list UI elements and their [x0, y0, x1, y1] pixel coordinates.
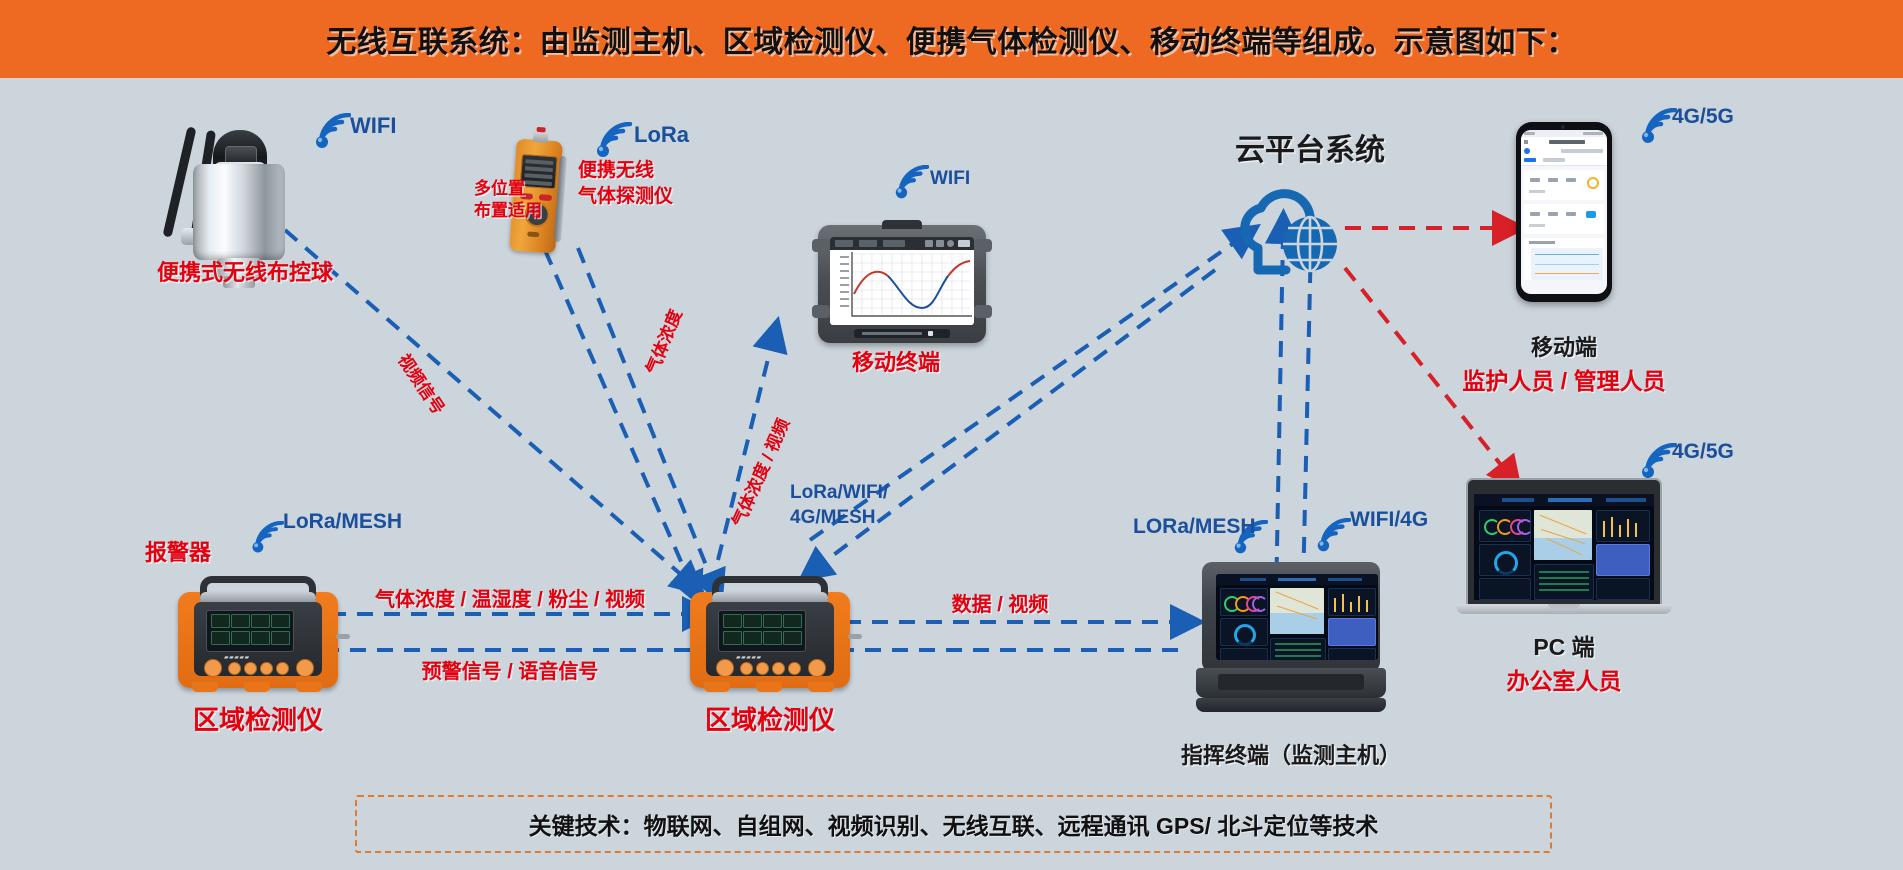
diagram-canvas: 无线互联系统：由监测主机、区域检测仪、便携气体检测仪、移动终端等组成。示意图如下…: [0, 0, 1903, 870]
dashboard-header: [1474, 494, 1654, 506]
gauge-panel: [1479, 510, 1531, 542]
mobile-phone-label: 移动端: [1434, 330, 1694, 362]
tablet-body: [818, 225, 986, 343]
area-detector-center-label: 区域检测仪: [640, 700, 900, 737]
trend-chart: [1531, 248, 1603, 280]
lora-signal-icon: [592, 122, 632, 162]
terminal-keyboard[interactable]: [1218, 674, 1364, 690]
signal-label-wifi-ball: WIFI: [350, 113, 396, 139]
cloud-platform-label: 云平台系统: [1150, 125, 1470, 169]
list-panel-right: [1596, 578, 1650, 600]
summary-card-2: [1524, 204, 1604, 234]
portable-detector-note: 多位置 布置适用: [474, 178, 542, 222]
antenna-connector: [848, 634, 862, 639]
label-line-2: 气体探测仪: [578, 184, 673, 210]
tablet-handle: [882, 220, 922, 229]
trend-chart: [830, 250, 974, 325]
page-header: 无线互联系统：由监测主机、区域检测仪、便携气体检测仪、移动终端等组成。示意图如下…: [0, 0, 1903, 78]
link-label-warning-voice: 预警信号 / 语音信号: [330, 655, 690, 684]
brand-mark: ▰▰▰▰▰: [224, 654, 250, 661]
filter-row[interactable]: [1521, 156, 1607, 166]
signal-icon-4g5g-phone: [1637, 108, 1677, 148]
chart-card: [1524, 238, 1604, 280]
ptz-ball-camera-label: 便携式无线布控球: [110, 255, 380, 287]
laptop-lid: [1466, 478, 1662, 606]
front-camera-icon: [1561, 125, 1565, 129]
terminal-lid: [1202, 562, 1380, 672]
alarm-device-label: 报警器: [145, 535, 211, 567]
link-label-data-video: 数据 / 视频: [860, 588, 1140, 617]
mobile-phone-sublabel: 监护人员 / 管理人员: [1414, 362, 1714, 396]
lora-mesh-signal-icon: [248, 521, 284, 557]
portable-gas-detector-label: 便携无线 气体探测仪: [578, 158, 673, 210]
link-label-gas-temp-dust-video: 气体浓度 / 温湿度 / 粉尘 / 视频: [300, 583, 720, 612]
list-panel-left: [1479, 578, 1531, 600]
pc-laptop[interactable]: [1456, 478, 1672, 624]
laptop-notch: [1548, 604, 1580, 609]
page-title: 无线互联系统：由监测主机、区域检测仪、便携气体检测仪、移动终端等组成。示意图如下…: [326, 17, 1577, 61]
signal-label-lora: LoRa: [634, 122, 689, 148]
laptop-screen: [1474, 494, 1654, 600]
note-line-2: 布置适用: [474, 200, 542, 222]
signal-label-wifi-4g: WIFI/4G: [1350, 508, 1428, 532]
summary-card-1: [1524, 170, 1604, 200]
sensor-cap: [533, 131, 549, 143]
antenna-connector: [336, 634, 350, 639]
bar-panel: [1596, 510, 1650, 542]
brand-mark: ▰▰▰▰▰: [736, 654, 762, 661]
terminal-bottom: [1196, 698, 1386, 712]
tablet-screen: [830, 237, 974, 325]
note-line-1: 多位置: [474, 178, 542, 200]
command-terminal-label: 指挥终端（监测主机）: [1131, 738, 1451, 770]
mobile-phone[interactable]: [1516, 122, 1612, 302]
video-panel: [1596, 544, 1650, 576]
link-label-gas-concentration: 气体浓度: [638, 305, 687, 377]
wifi-icon: [891, 165, 929, 203]
signal-label-4g5g-phone: 4G/5G: [1672, 105, 1734, 129]
link-label-lora-wifi-4g-mesh: LoRa/WIFI/ 4G/MESH: [790, 480, 888, 530]
signal-label-lora-mesh: LoRa/MESH: [283, 510, 402, 534]
table-panel: [1534, 564, 1594, 600]
wifi-icon: [311, 113, 351, 153]
status-bar: [1521, 130, 1607, 137]
key-technology-box: 关键技术：物联网、自组网、视频识别、无线互联、远程通讯 GPS/ 北斗定位等技术: [355, 795, 1552, 853]
detector-display: [718, 610, 806, 652]
map-panel: [1534, 510, 1592, 560]
key-technology-text: 关键技术：物联网、自组网、视频识别、无线互联、远程通讯 GPS/ 北斗定位等技术: [529, 807, 1379, 841]
label-line-1: 便携无线: [578, 158, 673, 184]
cloud-platform-icon[interactable]: [1228, 178, 1363, 293]
mobile-terminal-tablet[interactable]: [818, 225, 998, 355]
label-line-2: 4G/MESH: [790, 505, 888, 530]
area-detector-left-label: 区域检测仪: [128, 700, 388, 737]
ring-panel: [1479, 544, 1531, 576]
signal-label-wifi-tablet: WIFI: [930, 168, 970, 190]
label-line-1: LoRa/WIFI/: [790, 480, 888, 505]
wifi-4g-signal-icon: [1313, 518, 1351, 556]
signal-icon-4g5g-pc: [1637, 443, 1677, 483]
terminal-screen: [1216, 574, 1378, 660]
link-label-video-signal: 视频信号: [393, 348, 452, 418]
detector-display: [206, 610, 294, 652]
link-label-gas-and-video: 气体浓度 / 视频: [724, 414, 794, 530]
antenna-icon: [163, 126, 197, 237]
command-terminal[interactable]: [1196, 562, 1386, 712]
signal-label-lora-mesh-terminal: LORa/MESH: [1133, 515, 1256, 539]
signal-label-4g5g-pc: 4G/5G: [1672, 440, 1734, 464]
tablet-ports: [854, 329, 950, 338]
camera-body: [193, 164, 285, 260]
phone-screen: [1521, 130, 1607, 294]
mobile-terminal-label: 移动终端: [852, 345, 940, 377]
pc-laptop-sublabel: 办公室人员: [1424, 662, 1704, 696]
screen-statusbar: [830, 237, 974, 250]
pc-laptop-label: PC 端: [1434, 628, 1694, 662]
toolbar[interactable]: [1521, 147, 1607, 156]
